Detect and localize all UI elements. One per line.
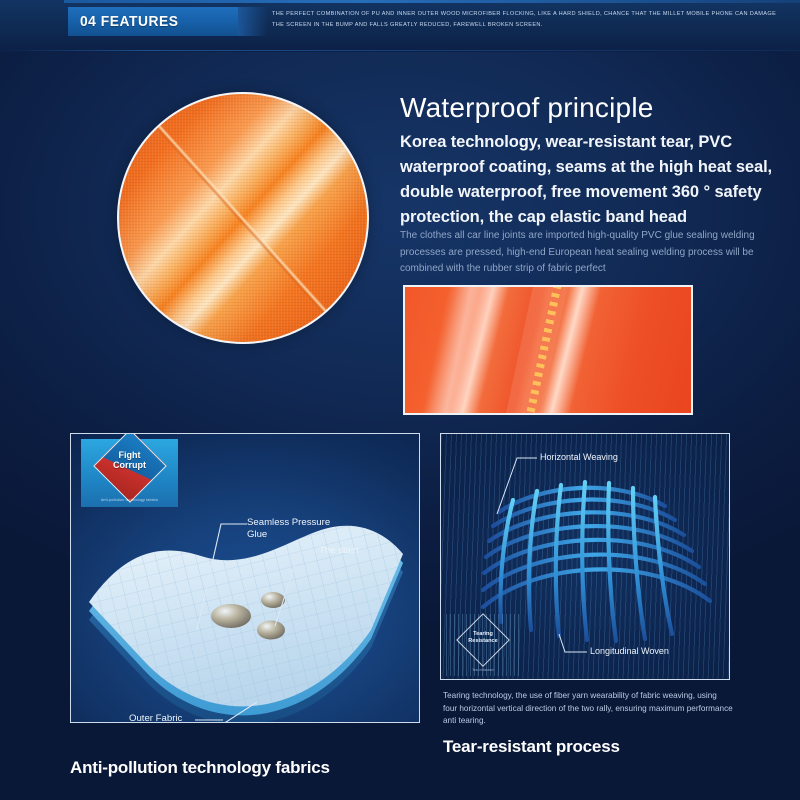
header-description: THE PERFECT COMBINATION OF PU AND INNER … <box>272 9 784 31</box>
infographic-page: 04 FEATURES THE PERFECT COMBINATION OF P… <box>0 0 800 800</box>
orange-fabric-circle-photo <box>117 92 369 344</box>
horizontal-yarns <box>483 488 710 607</box>
callout-outer-fabric: Outer Fabric <box>129 713 182 723</box>
waterproof-subtext: The clothes all car line joints are impo… <box>400 228 780 278</box>
header-accent-strip <box>238 7 268 36</box>
badge-title: Fight Corrupt <box>81 450 178 470</box>
features-badge-label: 04 FEATURES <box>68 13 179 30</box>
page-title: Waterproof principle <box>400 92 790 124</box>
anti-pollution-panel: Fight Corrupt Anti-pollution technology … <box>70 433 420 723</box>
tear-resistant-caption: Tear-resistant process <box>443 737 620 757</box>
badge-title-line2: Corrupt <box>113 460 146 470</box>
header-top-rule <box>64 0 800 3</box>
callout-seamless-pressure-glue: Seamless Pressure Glue <box>247 517 352 542</box>
tearing-badge-line2: Resistance <box>468 638 498 644</box>
header-bottom-rule <box>0 50 800 51</box>
tearing-resistance-badge: Tearing Resistance Tear-resistance <box>446 614 520 676</box>
tearing-badge-subtitle: Tear-resistance <box>446 668 520 672</box>
callout-longitudinal-woven: Longitudinal Woven <box>590 646 669 656</box>
header-band: 04 FEATURES THE PERFECT COMBINATION OF P… <box>0 0 800 52</box>
badge-subtitle: Anti-pollution technology fabrics <box>81 498 178 502</box>
tear-resistant-description: Tearing technology, the use of fiber yar… <box>443 690 733 728</box>
badge-title-line1: Fight <box>119 450 141 460</box>
tearing-badge-line1: Tearing <box>473 631 493 637</box>
photo-gloss-highlight <box>414 285 498 415</box>
tearing-badge-title: Tearing Resistance <box>446 631 520 644</box>
waterproof-body-text: Korea technology, wear-resistant tear, P… <box>400 130 792 230</box>
callout-the-stain: The stain <box>319 545 358 557</box>
seam-tape-closeup-photo <box>403 285 693 415</box>
callout-horizontal-weaving: Horizontal Weaving <box>540 452 618 462</box>
tear-resistant-panel: Horizontal Weaving Longitudinal Woven Te… <box>440 433 730 680</box>
features-section-badge: 04 FEATURES <box>68 7 238 36</box>
fabric-membrane-illustration <box>71 434 420 723</box>
anti-pollution-caption: Anti-pollution technology fabrics <box>70 758 330 778</box>
